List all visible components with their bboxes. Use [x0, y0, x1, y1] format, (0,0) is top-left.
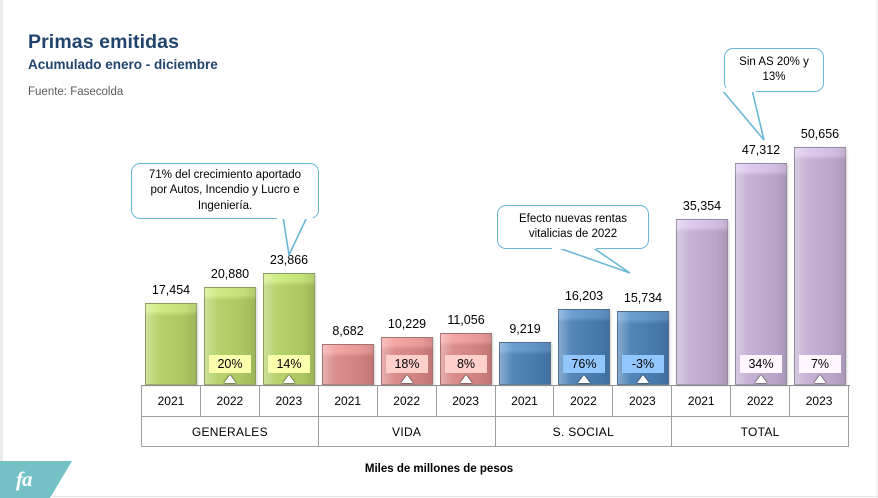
- bar-body: [676, 219, 728, 385]
- bar-generales-2021: [145, 303, 197, 385]
- callout-total-tail: [700, 88, 820, 148]
- bar-body: [558, 309, 610, 385]
- bar-ssocial-2022: [558, 309, 610, 385]
- axis-year-generales-2021: 2021: [142, 385, 201, 416]
- callout-generales-tail: [131, 215, 321, 263]
- bar-growth-label: 14%: [268, 355, 310, 373]
- axis-year-ssocial-2021: 2021: [496, 385, 555, 416]
- bar-vida-2021: [322, 344, 374, 385]
- axis-group-row: GENERALESVIDAS. SOCIALTOTAL: [142, 416, 848, 446]
- growth-marker-triangle: [283, 375, 295, 383]
- footer-rule: [52, 496, 878, 497]
- bar-growth-label: 8%: [445, 355, 487, 373]
- bar-growth-label: 20%: [209, 355, 251, 373]
- callout-social: Efecto nuevas rentas vitalicias de 2022: [497, 205, 649, 249]
- axis-year-generales-2023: 2023: [260, 385, 319, 416]
- bar-highlight: [736, 164, 786, 384]
- bar-body: [145, 303, 197, 385]
- bar-growth-label: 34%: [740, 355, 782, 373]
- axis-group-generales: GENERALES: [142, 417, 319, 446]
- growth-marker-triangle: [637, 375, 649, 383]
- bar-body: [322, 344, 374, 385]
- bar-highlight: [795, 148, 845, 384]
- bar-total-2023: [794, 147, 846, 385]
- axis-group-ssocial: S. SOCIAL: [496, 417, 673, 446]
- axis-year-total-2021: 2021: [672, 385, 731, 416]
- axis-year-total-2023: 2023: [790, 385, 848, 416]
- bar-total-2021: [676, 219, 728, 385]
- bar-value-label: 9,219: [483, 322, 567, 336]
- callout-generales: 71% del crecimiento aportado por Autos, …: [131, 163, 319, 219]
- bar-ssocial-2021: [499, 342, 551, 385]
- bar-highlight: [146, 304, 196, 384]
- bar-value-label: 15,734: [601, 291, 685, 305]
- growth-marker-triangle: [401, 375, 413, 383]
- bar-body: [794, 147, 846, 385]
- axis-year-total-2022: 2022: [731, 385, 790, 416]
- growth-marker-triangle: [224, 375, 236, 383]
- growth-marker-triangle: [814, 375, 826, 383]
- bar-value-label: 35,354: [660, 199, 744, 213]
- bar-growth-label: 7%: [799, 355, 841, 373]
- callout-total: Sin AS 20% y 13%: [724, 48, 824, 92]
- chart-units-caption: Miles de millones de pesos: [0, 463, 878, 475]
- bar-body: [499, 342, 551, 385]
- slide-canvas: Primas emitidas Acumulado enero - diciem…: [0, 0, 878, 498]
- fasecolda-logo: fa: [0, 461, 112, 498]
- bar-highlight: [500, 343, 550, 384]
- axis-year-row: 2021202220232021202220232021202220232021…: [142, 385, 848, 416]
- bar-growth-label: -3%: [622, 355, 664, 373]
- axis-year-vida-2022: 2022: [378, 385, 437, 416]
- bar-body: [735, 163, 787, 385]
- bar-value-label: 17,454: [129, 283, 213, 297]
- axis-group-total: TOTAL: [672, 417, 848, 446]
- axis-table: 2021202220232021202220232021202220232021…: [141, 385, 849, 447]
- growth-marker-triangle: [755, 375, 767, 383]
- bar-highlight: [323, 345, 373, 384]
- axis-year-generales-2022: 2022: [201, 385, 260, 416]
- axis-year-vida-2021: 2021: [319, 385, 378, 416]
- bar-value-label: 20,880: [188, 267, 272, 281]
- axis-year-ssocial-2023: 2023: [613, 385, 672, 416]
- axis-group-vida: VIDA: [319, 417, 496, 446]
- growth-marker-triangle: [460, 375, 472, 383]
- bar-growth-label: 18%: [386, 355, 428, 373]
- bar-growth-label: 76%: [563, 355, 605, 373]
- growth-marker-triangle: [578, 375, 590, 383]
- bar-ssocial-2023: [617, 311, 669, 385]
- callout-social-tail: [540, 245, 660, 285]
- bar-highlight: [618, 312, 668, 384]
- axis-year-vida-2023: 2023: [437, 385, 496, 416]
- axis-year-ssocial-2022: 2022: [554, 385, 613, 416]
- bar-total-2022: [735, 163, 787, 385]
- bar-body: [617, 311, 669, 385]
- logo-mark-text: fa: [16, 467, 32, 492]
- bar-highlight: [677, 220, 727, 384]
